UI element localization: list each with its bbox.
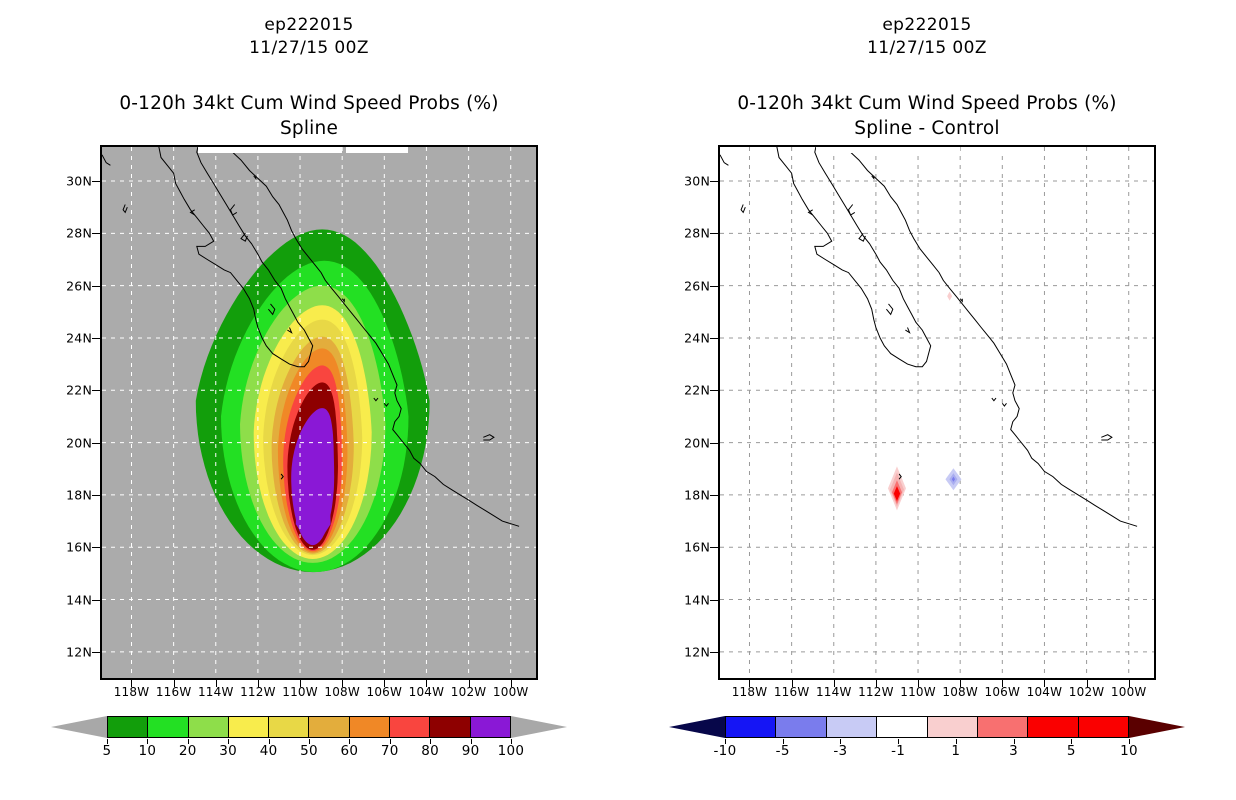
colorbar-swatch (350, 717, 390, 737)
y-axis-tick-label: 14N (658, 592, 710, 607)
y-axis-tick-label: 20N (40, 435, 92, 450)
coastline-segment (849, 205, 855, 216)
colorbar-swatch (390, 717, 430, 737)
y-axis-tick-mark (92, 652, 100, 653)
colorbar-tick-label: 3 (984, 743, 1044, 759)
colorbar-swatch (827, 717, 877, 737)
x-axis-tick-label: 108W (936, 685, 984, 699)
y-axis-tick-label: 12N (658, 644, 710, 659)
colorbar-swatch (978, 717, 1028, 737)
storm-id-text: ep222015 (618, 14, 1236, 37)
colorbar-swatch (229, 717, 269, 737)
colorbar-swatch (269, 717, 309, 737)
colorbar-tick-label: 100 (481, 743, 541, 759)
panel-spline-minus-control: ep222015 11/27/15 00Z 0-120h 34kt Cum Wi… (618, 0, 1236, 800)
coastline-segment (241, 233, 247, 241)
coastline-segment (102, 155, 110, 166)
y-axis-tick-label: 18N (658, 487, 710, 502)
y-axis-tick-mark (710, 600, 718, 601)
coastline-difference (720, 147, 1137, 526)
map-plot-spline (100, 145, 538, 680)
coastline-segment (123, 205, 127, 213)
colorbar-anomaly-ticks: -10-5-3-113510 (670, 739, 1184, 759)
y-axis-tick-mark (92, 233, 100, 234)
coastline-segment (1101, 435, 1112, 440)
y-axis-tick-mark (92, 181, 100, 182)
y-axis-tick-mark (710, 652, 718, 653)
colorbar-under-arrow-right (669, 716, 725, 738)
storm-id-text: ep222015 (0, 14, 618, 37)
x-axis-tick-label: 112W (852, 685, 900, 699)
y-axis-tick-label: 14N (40, 592, 92, 607)
x-axis-tick-label: 104W (1020, 685, 1068, 699)
y-axis-tick-mark (92, 390, 100, 391)
x-axis-tick-label: 110W (276, 685, 324, 699)
coastline-segment (741, 205, 745, 213)
x-axis-tick-label: 108W (318, 685, 366, 699)
colorbar-over-arrow-left (511, 716, 567, 738)
contour-band-core (296, 421, 331, 538)
top-notch-right-b (964, 147, 1026, 153)
colorbar-probability-strip (107, 716, 511, 738)
x-axis-tick-label: 100W (487, 685, 535, 699)
x-axis-tick-label: 102W (1063, 685, 1111, 699)
x-axis-tick-label: 106W (360, 685, 408, 699)
colorbar-tick-label: 5 (1041, 743, 1101, 759)
y-axis-tick-mark (710, 390, 718, 391)
x-axis-tick-label: 118W (107, 685, 155, 699)
coastline-segment (720, 155, 728, 166)
x-axis-tick-label: 118W (725, 685, 773, 699)
y-axis-tick-label: 22N (658, 383, 710, 398)
map-plot-difference (718, 145, 1156, 680)
y-axis-tick-label: 22N (40, 383, 92, 398)
coastline-segment (483, 435, 494, 440)
colorbar-anomaly-strip (725, 716, 1129, 738)
colorbar-over-arrow-right (1129, 716, 1185, 738)
colorbar-swatch (928, 717, 978, 737)
y-axis-tick-mark (710, 495, 718, 496)
y-axis-tick-label: 20N (658, 435, 710, 450)
map-gridlines-difference (720, 147, 1154, 678)
colorbar-under-arrow-left (51, 716, 107, 738)
x-axis-tick-label: 110W (894, 685, 942, 699)
coastline-segment (905, 328, 909, 333)
colorbar-swatch (309, 717, 349, 737)
panel-right-subtitle: Spline - Control (618, 116, 1236, 141)
colorbar-anomaly: -10-5-3-113510 (670, 716, 1184, 762)
colorbar-swatch (776, 717, 826, 737)
panel-left-subtitle: Spline (0, 116, 618, 141)
x-axis-tick-label: 114W (192, 685, 240, 699)
storm-datetime-text: 11/27/15 00Z (0, 37, 618, 60)
colorbar-swatch (430, 717, 470, 737)
y-axis-tick-mark (710, 443, 718, 444)
colorbar-tick-label: 10 (1099, 743, 1159, 759)
y-axis-tick-label: 26N (40, 278, 92, 293)
coastline-segment (992, 398, 996, 401)
top-notch-left-b (346, 147, 408, 153)
y-axis-tick-label: 30N (658, 174, 710, 189)
contour-map-difference (720, 147, 1154, 678)
colorbar-swatch (471, 717, 510, 737)
coastline-segment (769, 147, 931, 367)
coastline-segment (859, 233, 865, 241)
difference-anomaly-blobs (888, 292, 961, 511)
x-axis-tick-label: 100W (1105, 685, 1153, 699)
y-axis-tick-mark (710, 233, 718, 234)
top-notch-right-a (816, 147, 960, 153)
colorbar-tick-label: 1 (926, 743, 986, 759)
contour-map-spline (102, 147, 536, 678)
colorbar-swatch (877, 717, 927, 737)
colorbar-probability: 5102030405060708090100 (52, 716, 566, 762)
coastline-segment (231, 205, 237, 216)
probability-contour-bands (196, 229, 430, 572)
x-axis-tick-label: 114W (810, 685, 858, 699)
colorbar-swatch (1028, 717, 1078, 737)
colorbar-swatch (148, 717, 188, 737)
colorbar-probability-ticks: 5102030405060708090100 (52, 739, 566, 759)
panel-spline: ep222015 11/27/15 00Z 0-120h 34kt Cum Wi… (0, 0, 618, 800)
x-axis-tick-label: 112W (234, 685, 282, 699)
top-notch-left-a (198, 147, 342, 153)
colorbar-tick-label: -10 (695, 743, 755, 759)
panel-right-storm-id: ep222015 11/27/15 00Z (618, 14, 1236, 60)
coastline-segment (1002, 403, 1006, 406)
colorbar-tick-label: -5 (753, 743, 813, 759)
colorbar-swatch (1079, 717, 1128, 737)
colorbar-swatch (189, 717, 229, 737)
colorbar-tick-label: -1 (868, 743, 928, 759)
coastline-segment (886, 304, 892, 315)
y-axis-tick-mark (710, 547, 718, 548)
y-axis-tick-label: 30N (40, 174, 92, 189)
y-axis-tick-mark (710, 181, 718, 182)
y-axis-tick-mark (92, 495, 100, 496)
anomaly-contour (947, 292, 952, 301)
y-axis-tick-mark (92, 286, 100, 287)
y-axis-tick-mark (92, 338, 100, 339)
coastline-segment (872, 176, 874, 179)
colorbar-tick-label: -3 (810, 743, 870, 759)
y-axis-tick-mark (710, 286, 718, 287)
y-axis-tick-label: 16N (40, 540, 92, 555)
x-axis-tick-label: 104W (402, 685, 450, 699)
y-axis-tick-label: 28N (40, 226, 92, 241)
y-axis-tick-mark (92, 443, 100, 444)
y-axis-tick-label: 24N (40, 330, 92, 345)
y-axis-tick-label: 16N (658, 540, 710, 555)
y-axis-tick-label: 12N (40, 644, 92, 659)
panel-left-storm-id: ep222015 11/27/15 00Z (0, 14, 618, 60)
x-axis-tick-label: 116W (768, 685, 816, 699)
x-axis-tick-label: 116W (150, 685, 198, 699)
coastline-segment (254, 176, 256, 179)
y-axis-tick-label: 24N (658, 330, 710, 345)
x-axis-tick-label: 106W (978, 685, 1026, 699)
y-axis-tick-mark (710, 338, 718, 339)
y-axis-tick-label: 18N (40, 487, 92, 502)
panel-left-title: 0-120h 34kt Cum Wind Speed Probs (%) (0, 91, 618, 116)
x-axis-tick-label: 102W (445, 685, 493, 699)
y-axis-tick-mark (92, 600, 100, 601)
y-axis-tick-label: 28N (658, 226, 710, 241)
storm-datetime-text: 11/27/15 00Z (618, 37, 1236, 60)
colorbar-swatch (726, 717, 776, 737)
colorbar-swatch (108, 717, 148, 737)
y-axis-tick-mark (92, 547, 100, 548)
panel-right-title: 0-120h 34kt Cum Wind Speed Probs (%) (618, 91, 1236, 116)
y-axis-tick-label: 26N (658, 278, 710, 293)
